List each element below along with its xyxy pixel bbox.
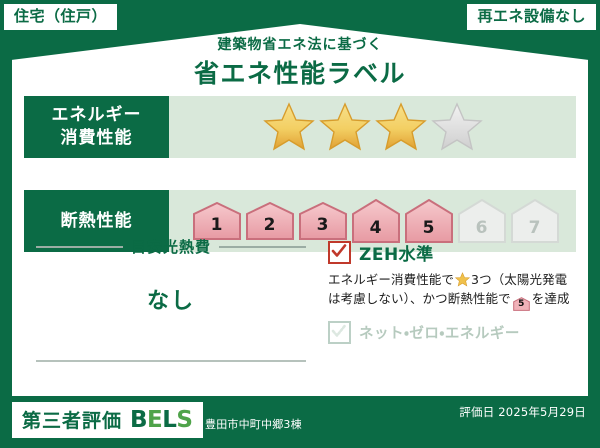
- bels-logo-l: L: [162, 407, 176, 433]
- check-icon-disabled: [331, 323, 347, 339]
- bels-certification-box: 第三者評価 BELS: [12, 402, 203, 438]
- energy-performance-key: エネルギー 消費性能: [24, 96, 169, 158]
- zeh-checkbox-checked[interactable]: [328, 241, 351, 264]
- energy-star-rating: [169, 96, 576, 158]
- insulation-level-1: 1: [192, 202, 242, 240]
- zeh-description: エネルギー消費性能で3つ（太陽光発電 は考慮しない）、かつ断熱性能で5を達成: [328, 270, 576, 311]
- net-zero-energy-label: ネット・ゼロ・エネルギー: [359, 322, 520, 343]
- net-zero-checkbox-unchecked[interactable]: [328, 321, 351, 344]
- energy-performance-label: 住宅（住戸） 再エネ設備なし 建築物省エネ法に基づく 省エネ性能ラベル エネルギ…: [0, 0, 600, 448]
- insulation-level-7-label: 7: [529, 218, 541, 243]
- insulation-level-2-label: 2: [264, 215, 276, 240]
- insulation-key-label: 断熱性能: [61, 210, 133, 233]
- insulation-level-1-label: 1: [211, 215, 223, 240]
- bels-logo-s: S: [176, 407, 192, 433]
- heading-rule-left: [36, 246, 123, 248]
- utility-cost-block: 目安光熱費 なし: [36, 236, 306, 315]
- zeh-block: ZEH水準 エネルギー消費性能で3つ（太陽光発電 は考慮しない）、かつ断熱性能で…: [328, 240, 576, 344]
- check-icon: [331, 243, 347, 259]
- badge-building-type: 住宅（住戸）: [4, 4, 117, 30]
- property-name: 豊田市中町中郷3棟: [205, 416, 302, 432]
- utility-cost-value: なし: [36, 283, 306, 315]
- zeh-desc-part1: エネルギー消費性能で: [328, 272, 454, 287]
- label-subtitle: 建築物省エネ法に基づく: [0, 34, 600, 54]
- bels-logo: BELS: [130, 407, 192, 433]
- insulation-level-4: 4: [351, 199, 401, 243]
- zeh-desc-part4: を達成: [532, 291, 570, 306]
- net-zero-energy-row: ネット・ゼロ・エネルギー: [328, 321, 576, 344]
- insulation-level-2: 2: [245, 202, 295, 240]
- zeh-desc-part2: 3つ（太陽光発電: [471, 272, 567, 287]
- bels-logo-b: B: [130, 407, 147, 433]
- bels-logo-e: E: [147, 407, 162, 433]
- insulation-level-3: 3: [298, 202, 348, 240]
- zeh-title: ZEH水準: [359, 240, 434, 265]
- heading-rule-right: [219, 246, 306, 248]
- star-3-icon: [375, 102, 427, 152]
- evaluation-date: 評価日 2025年5月29日: [459, 404, 586, 420]
- utility-cost-heading: 目安光熱費: [131, 236, 211, 257]
- energy-key-line2: 消費性能: [61, 127, 133, 150]
- insulation-level-6: 6: [457, 199, 507, 243]
- zeh-desc-part3: は考慮しない）、かつ断熱性能で: [328, 291, 511, 306]
- third-party-eval-label: 第三者評価: [22, 406, 122, 433]
- inline-house-badge-label: 5: [513, 297, 530, 312]
- badge-renewable-energy: 再エネ設備なし: [467, 4, 596, 30]
- star-1-icon: [263, 102, 315, 152]
- star-4-icon: [431, 102, 483, 152]
- insulation-level-7: 7: [510, 199, 560, 243]
- insulation-level-5-label: 5: [423, 218, 435, 243]
- insulation-level-4-label: 4: [370, 218, 382, 243]
- page-title: 省エネ性能ラベル: [0, 54, 600, 90]
- footer: 第三者評価 BELS 豊田市中町中郷3棟 評価日 2025年5月29日: [0, 398, 600, 448]
- energy-key-line1: エネルギー: [52, 104, 142, 127]
- energy-performance-row: エネルギー 消費性能: [24, 96, 576, 158]
- zeh-title-row: ZEH水準: [328, 240, 576, 265]
- star-2-icon: [319, 102, 371, 152]
- inline-house-badge: 5: [513, 297, 530, 311]
- insulation-level-5: 5: [404, 199, 454, 243]
- inline-star-icon: [455, 272, 470, 287]
- insulation-level-3-label: 3: [317, 215, 329, 240]
- utility-cost-bottom-rule: [36, 360, 306, 362]
- insulation-level-6-label: 6: [476, 218, 488, 243]
